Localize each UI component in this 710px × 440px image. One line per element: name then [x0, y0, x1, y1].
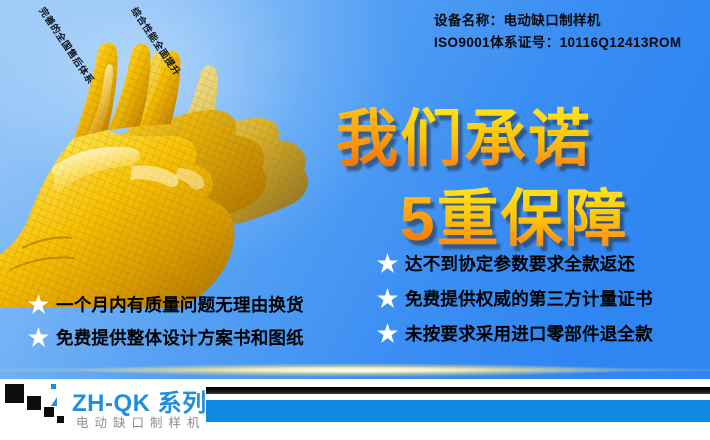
golden-hand-illustration: [0, 18, 312, 308]
device-name-text: 设备名称：电动缺口制样机: [434, 9, 601, 29]
headline-line-2-accent: 5: [400, 185, 436, 254]
footer-black-bar: [206, 387, 710, 394]
footer-blue-bar: [206, 400, 710, 422]
star-icon: [377, 253, 398, 274]
light-streak-divider: [0, 362, 710, 378]
logo-square-3: [44, 407, 54, 417]
promise-item-right-2: 免费提供权威的第三方计量证书: [377, 286, 653, 311]
headline-line-2: 5重保障: [400, 168, 629, 258]
star-icon: [377, 288, 398, 309]
promo-banner: 完善的全国售后体系 综合性能全面提升 设备名称：电动缺口制样机 ISO9001体…: [0, 0, 710, 440]
promise-text: 达不到协定参数要求全款返还: [405, 251, 635, 276]
star-icon: [377, 323, 398, 344]
promise-item-left-2: 免费提供整体设计方案书和图纸: [28, 325, 304, 350]
promise-item-right-3: 未按要求采用进口零部件退全款: [377, 321, 653, 346]
iso-certificate-text: ISO9001体系证号：10116Q12413ROM: [434, 31, 682, 51]
logo-square-1: [5, 384, 24, 403]
headline-line-1-accent: 我: [336, 105, 400, 174]
headline-line-1-rest: 们承诺: [400, 105, 592, 174]
logo-accent-triangle: [51, 397, 57, 406]
headline-line-2-rest: 重保障: [436, 185, 628, 254]
logo-square-4: [57, 416, 64, 423]
promise-item-left-1: 一个月内有质量问题无理由换货: [28, 292, 304, 317]
promise-text: 免费提供权威的第三方计量证书: [405, 286, 653, 311]
brand-subtitle: 电动缺口制样机: [76, 412, 206, 431]
logo-accent-square: [51, 384, 56, 389]
logo-square-2: [27, 396, 41, 410]
headline-line-1: 我们承诺: [336, 88, 592, 178]
star-icon: [28, 294, 49, 315]
footer-bar: ZH-QK 系列 电动缺口制样机: [0, 379, 710, 440]
promise-item-right-1: 达不到协定参数要求全款返还: [377, 251, 635, 276]
promise-text: 未按要求采用进口零部件退全款: [405, 321, 653, 346]
promise-text: 免费提供整体设计方案书和图纸: [56, 325, 304, 350]
promise-text: 一个月内有质量问题无理由换货: [56, 292, 304, 317]
star-icon: [28, 327, 49, 348]
